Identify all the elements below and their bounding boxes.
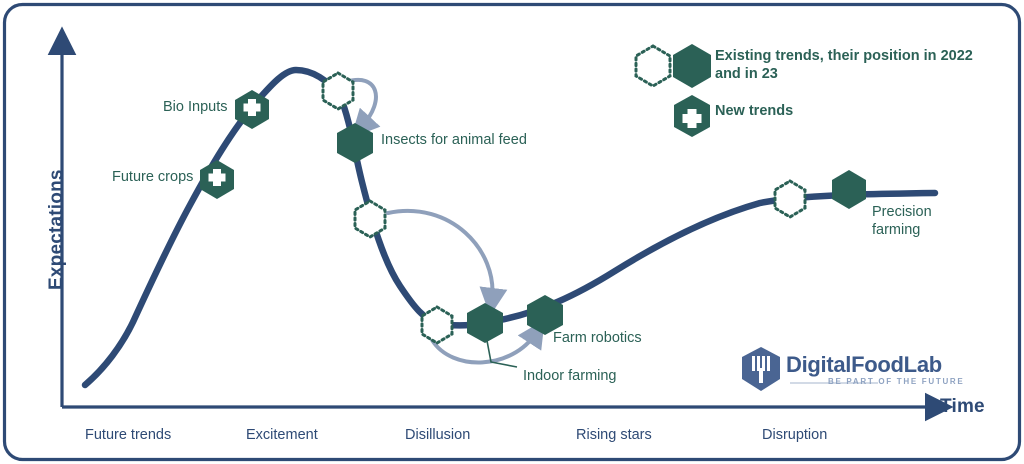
- x-axis-title: Time: [940, 396, 985, 418]
- trend-label-indoor-farming: Indoor farming: [523, 368, 617, 385]
- logo-tagline: BE PART OF THE FUTURE: [828, 377, 964, 386]
- marker-dotted-precision-farming: [775, 181, 805, 217]
- marker-dotted-insects: [323, 73, 353, 109]
- x-tick-label-excitement: Excitement: [246, 427, 318, 444]
- trend-label-precision-farming-line2: farming: [872, 222, 920, 239]
- trend-label-precision-farming-line1: Precision: [872, 204, 932, 221]
- hype-cycle-canvas: [0, 0, 1024, 464]
- x-tick-label-future-trends: Future trends: [85, 427, 171, 444]
- y-axis-title: Expectations: [46, 169, 68, 290]
- legend-label-existing-trends-line2: and in 23: [715, 65, 778, 83]
- marker-dotted-indoor-farming: [355, 201, 385, 237]
- x-tick-label-disruption: Disruption: [762, 427, 827, 444]
- logo-name: DigitalFoodLab: [786, 352, 942, 377]
- trend-label-future-crops: Future crops: [112, 169, 193, 186]
- legend-label-existing-trends-line1: Existing trends, their position in 2022: [715, 47, 973, 65]
- legend-label-new-trends: New trends: [715, 102, 793, 120]
- marker-dotted-farm-robotics: [422, 307, 452, 343]
- x-tick-label-disillusion: Disillusion: [405, 427, 470, 444]
- trend-label-farm-robotics: Farm robotics: [553, 330, 642, 347]
- trend-label-bio-inputs: Bio Inputs: [163, 99, 228, 116]
- figure-border: [5, 5, 1020, 460]
- hype-cycle-figure: Expectations Time Future trends Exciteme…: [0, 0, 1024, 464]
- legend-marker-dotted-hexagon: [636, 46, 670, 86]
- trend-label-insects-for-animal-feed: Insects for animal feed: [381, 132, 527, 149]
- x-tick-label-rising-stars: Rising stars: [576, 427, 652, 444]
